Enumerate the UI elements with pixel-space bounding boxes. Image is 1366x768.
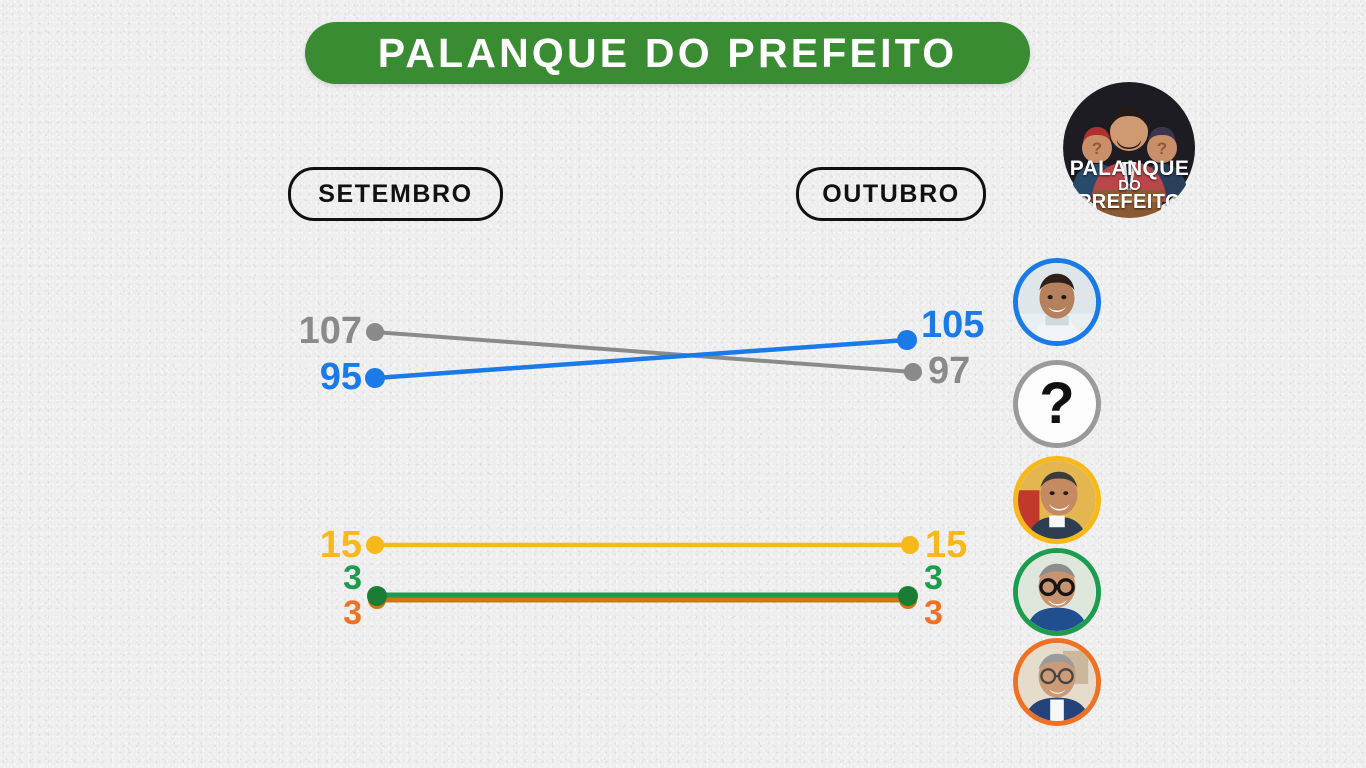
value-label-green-outubro: 3 (924, 561, 943, 595)
value-label-blue-setembro: 95 (266, 358, 362, 396)
candidate-photo-yellow (1018, 461, 1096, 539)
series-marker-yellow-setembro (366, 536, 384, 554)
series-marker-gray-outubro (904, 363, 922, 381)
series-marker-gray-setembro (366, 323, 384, 341)
candidate-avatar-unknown[interactable]: ? (1013, 360, 1101, 448)
candidate-avatar-blue[interactable] (1013, 258, 1101, 346)
svg-text:?: ? (1092, 139, 1102, 158)
series-line-gray (375, 332, 913, 372)
value-label-gray-outubro: 97 (928, 352, 970, 390)
logo-text: PALANQUE DO PREFEITO (1063, 159, 1196, 212)
series-marker-green-outubro (898, 586, 918, 606)
value-label-orange-outubro: 3 (924, 596, 943, 630)
candidate-photo-green (1018, 553, 1096, 631)
value-label-gray-setembro: 107 (266, 312, 362, 350)
series-marker-blue-setembro (365, 368, 385, 388)
question-mark-icon: ? (1039, 375, 1074, 433)
logo-line-prefeito: PREFEITO (1063, 193, 1196, 212)
value-label-orange-setembro: 3 (320, 596, 362, 630)
candidate-avatar-orange[interactable] (1013, 638, 1101, 726)
series-marker-green-setembro (367, 586, 387, 606)
svg-text:?: ? (1157, 139, 1167, 158)
series-line-blue (375, 340, 907, 378)
value-label-green-setembro: 3 (320, 561, 362, 595)
candidate-photo-orange (1018, 643, 1096, 721)
series-marker-blue-outubro (897, 330, 917, 350)
candidate-avatar-green[interactable] (1013, 548, 1101, 636)
infographic-stage: PALANQUE DO PREFEITO SETEMBRO OUTUBRO (0, 0, 1366, 768)
candidate-photo-blue (1018, 263, 1096, 341)
series-marker-yellow-outubro (901, 536, 919, 554)
candidate-avatar-yellow[interactable] (1013, 456, 1101, 544)
palanque-do-prefeito-logo: ? ? PALANQUE DO PREFEITO (1063, 78, 1196, 218)
value-label-blue-outubro: 105 (921, 306, 984, 344)
